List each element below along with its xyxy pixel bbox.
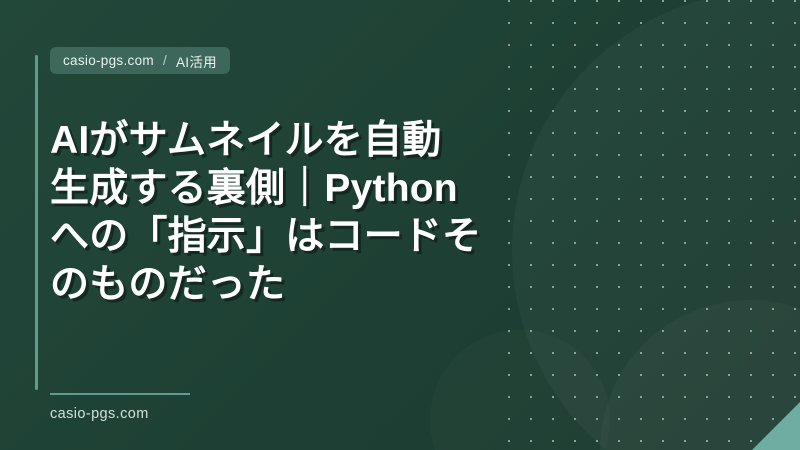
title-line-2: 生成する裏側｜Python [50, 165, 550, 213]
breadcrumb-separator: / [163, 53, 167, 68]
footer: casio-pgs.com [50, 393, 220, 422]
corner-triangle-accent [752, 402, 800, 450]
left-accent-bar [35, 55, 38, 390]
thumbnail-card: casio-pgs.com / AI活用 AIがサムネイルを自動 生成する裏側｜… [0, 0, 800, 450]
title-line-1: AIがサムネイルを自動 [50, 117, 550, 165]
breadcrumb: casio-pgs.com / AI活用 [50, 47, 230, 74]
breadcrumb-site: casio-pgs.com [63, 53, 154, 68]
footer-divider [50, 393, 190, 395]
breadcrumb-category: AI活用 [176, 51, 217, 71]
footer-site-label: casio-pgs.com [50, 406, 220, 422]
title-line-4: のものだった [50, 261, 550, 309]
page-title: AIがサムネイルを自動 生成する裏側｜Python への「指示」はコードそ のも… [50, 117, 550, 309]
title-line-3: への「指示」はコードそ [50, 213, 550, 261]
